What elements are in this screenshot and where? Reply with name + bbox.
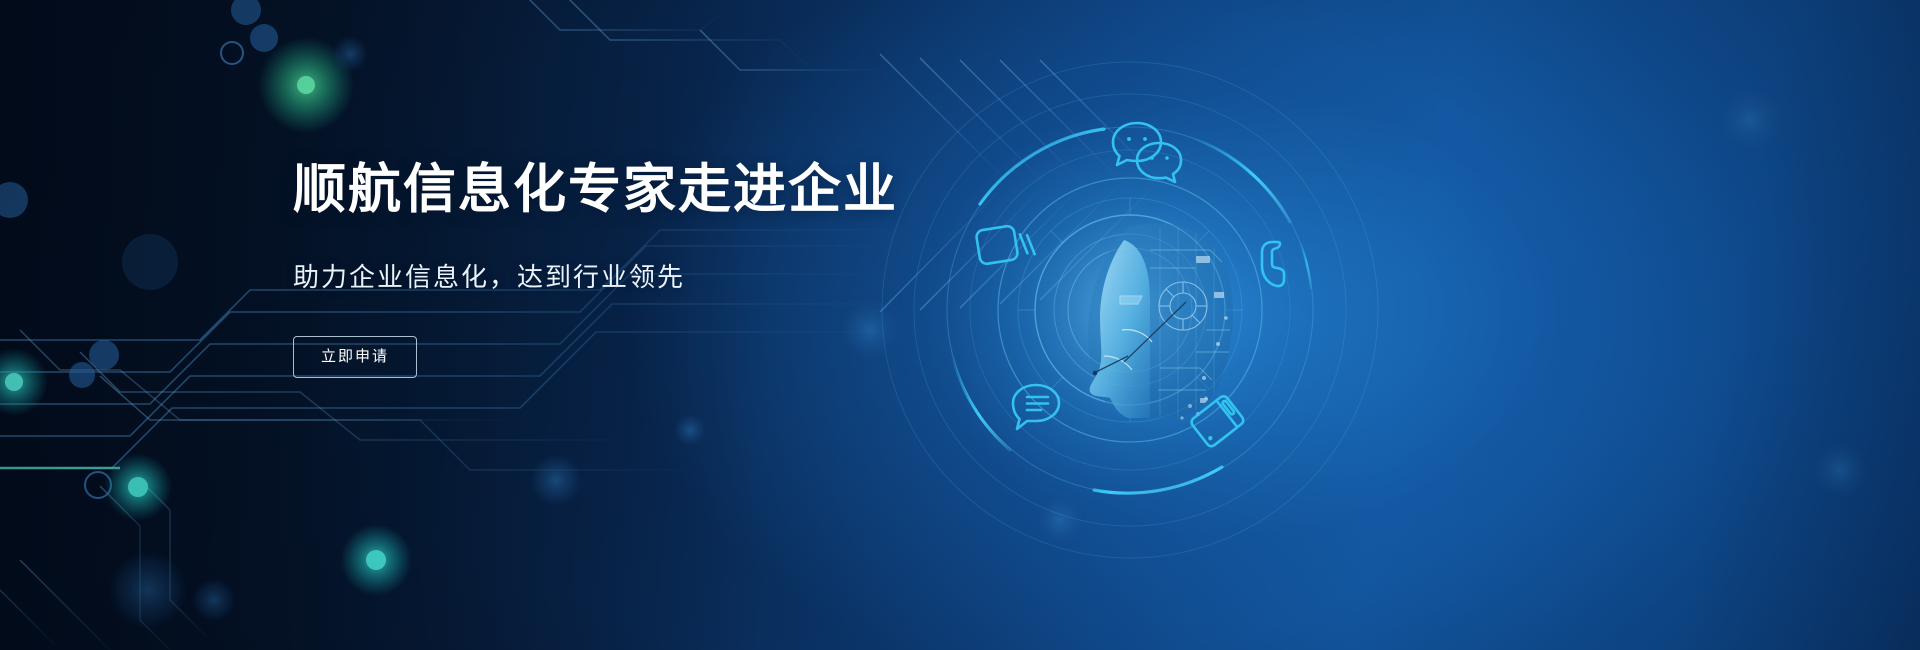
hero-banner: 顺航信息化专家走进企业 助力企业信息化，达到行业领先 立即申请 [0, 0, 1920, 650]
hero-content: 顺航信息化专家走进企业 助力企业信息化，达到行业领先 立即申请 [293, 160, 1053, 378]
apply-now-button[interactable]: 立即申请 [293, 336, 417, 379]
page-title: 顺航信息化专家走进企业 [293, 160, 1053, 221]
robot-head-profile [1088, 223, 1233, 419]
hero-subtitle: 助力企业信息化，达到行业领先 [293, 257, 1053, 294]
